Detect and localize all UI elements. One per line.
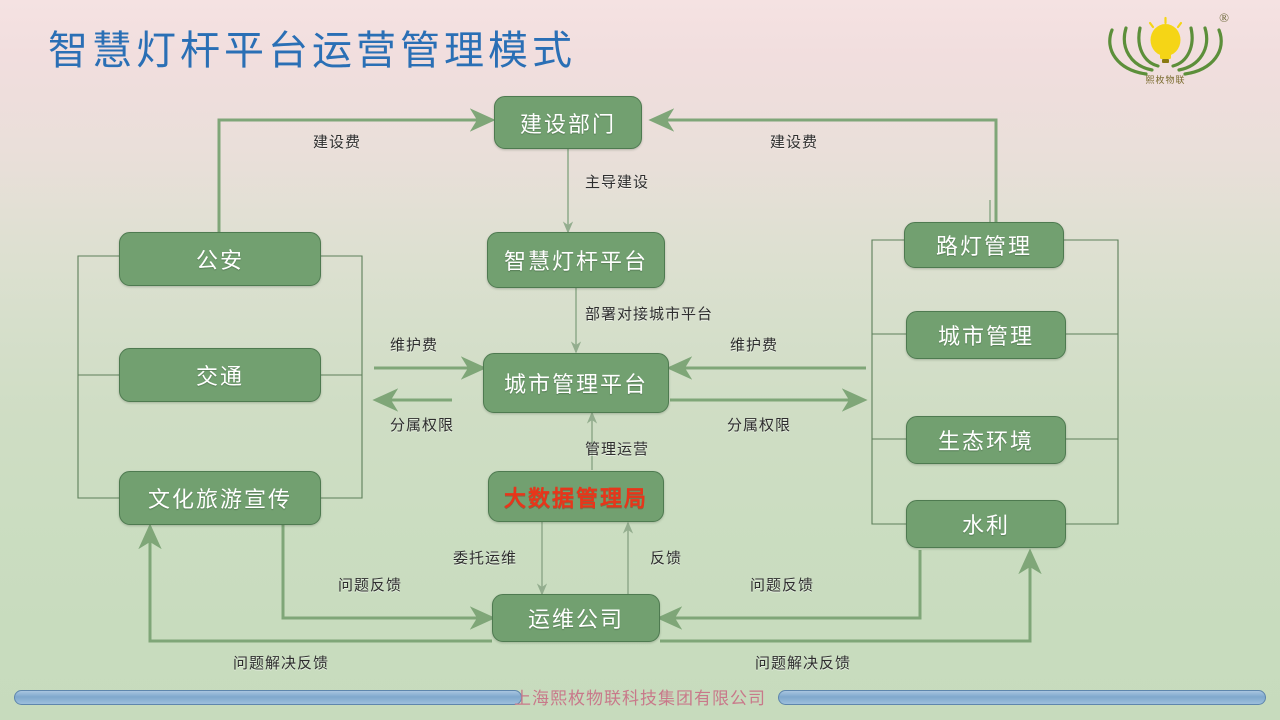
edge-label-authority-left: 分属权限	[390, 414, 454, 435]
slide-canvas: 智慧灯杆平台运营管理模式 ®	[0, 0, 1280, 720]
node-label: 大数据管理局	[504, 481, 648, 513]
node-construction-dept[interactable]: 建设部门	[494, 96, 642, 149]
node-public-security[interactable]: 公安	[119, 232, 321, 286]
edge-label-maintenance-fee-right: 维护费	[730, 334, 778, 355]
node-label: 生态环境	[938, 424, 1034, 456]
node-urban-management[interactable]: 城市管理	[906, 311, 1066, 359]
edge-label-construction-fee-left: 建设费	[313, 131, 361, 152]
edge-label-issue-feedback-right: 问题反馈	[750, 574, 814, 595]
node-label: 智慧灯杆平台	[504, 244, 648, 276]
node-big-data-bureau[interactable]: 大数据管理局	[488, 471, 664, 522]
edge-label-issue-resolved-right: 问题解决反馈	[755, 652, 851, 673]
node-label: 公安	[196, 243, 244, 275]
node-water-conservancy[interactable]: 水利	[906, 500, 1066, 548]
edge-label-issue-resolved-left: 问题解决反馈	[233, 652, 329, 673]
node-label: 运维公司	[528, 602, 624, 634]
edge-label-maintenance-fee-left: 维护费	[390, 334, 438, 355]
node-label: 路灯管理	[936, 229, 1032, 261]
edge-label-deploy-docking: 部署对接城市平台	[585, 303, 713, 324]
edge-label-entrust-om: 委托运维	[453, 547, 517, 568]
edge-label-feedback: 反馈	[650, 547, 682, 568]
node-label: 城市管理平台	[504, 367, 648, 399]
node-label: 交通	[196, 359, 244, 391]
node-om-company[interactable]: 运维公司	[492, 594, 660, 642]
node-smart-pole-platform[interactable]: 智慧灯杆平台	[487, 232, 665, 288]
node-city-management-platform[interactable]: 城市管理平台	[483, 353, 669, 413]
node-transportation[interactable]: 交通	[119, 348, 321, 402]
node-label: 文化旅游宣传	[148, 482, 292, 514]
node-culture-tourism[interactable]: 文化旅游宣传	[119, 471, 321, 525]
node-eco-environment[interactable]: 生态环境	[906, 416, 1066, 464]
node-streetlight-management[interactable]: 路灯管理	[904, 222, 1064, 268]
node-label: 水利	[962, 508, 1010, 540]
footer-company-name: 上海熙枚物联科技集团有限公司	[0, 684, 1280, 709]
edge-label-issue-feedback-left: 问题反馈	[338, 574, 402, 595]
edge-label-authority-right: 分属权限	[727, 414, 791, 435]
edge-label-lead-construction: 主导建设	[585, 171, 649, 192]
footer: 上海熙枚物联科技集团有限公司	[0, 676, 1280, 720]
edge-label-construction-fee-right: 建设费	[770, 131, 818, 152]
node-label: 城市管理	[938, 319, 1034, 351]
edge-label-manage-operate: 管理运营	[585, 438, 649, 459]
node-label: 建设部门	[520, 107, 616, 139]
